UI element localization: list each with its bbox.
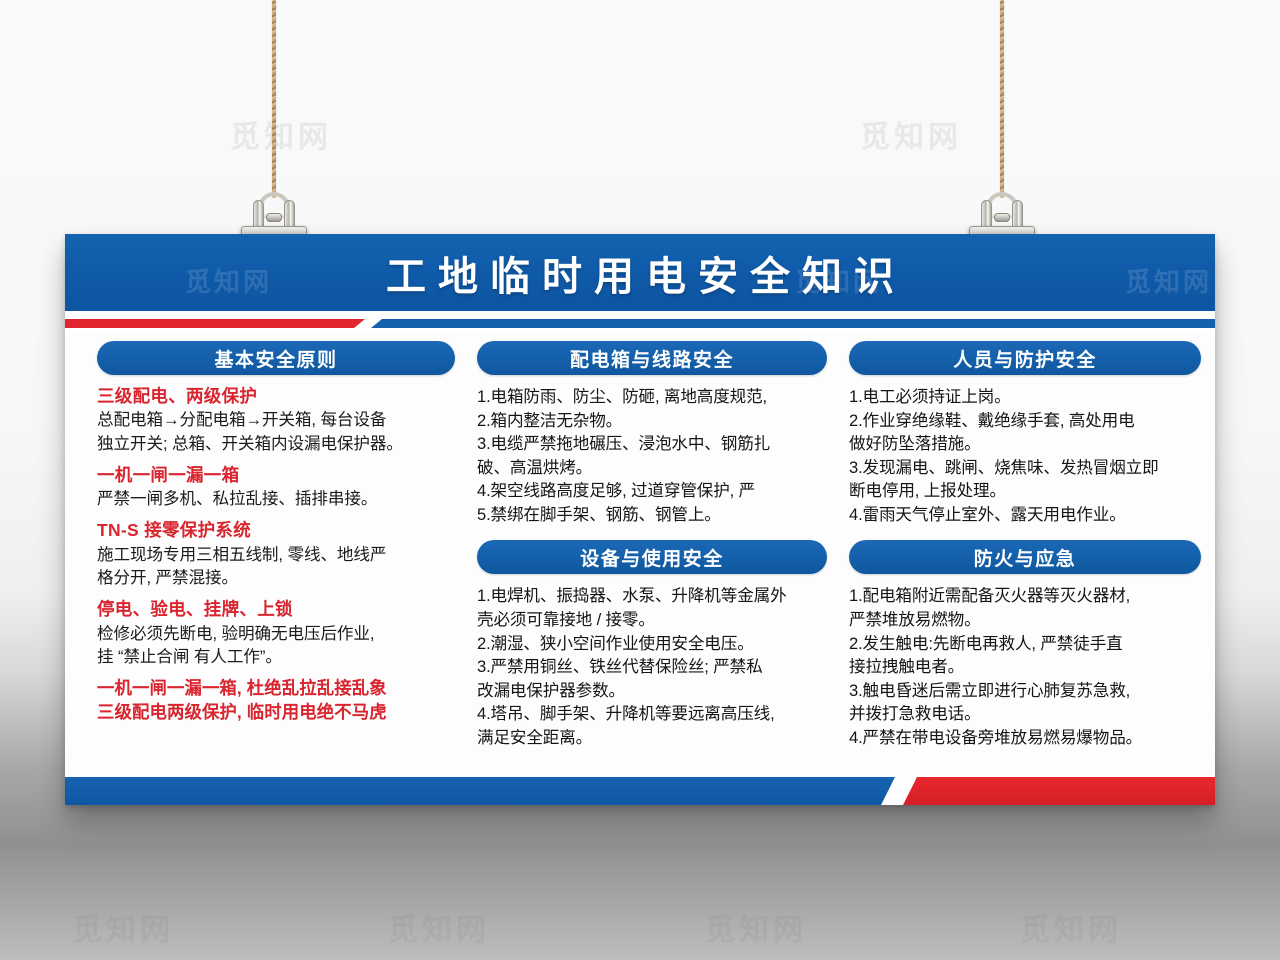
column-distribution-box: 配电箱与线路安全 1.电箱防雨、防尘、防砸, 离地高度规范, 2.箱内整洁无杂物… — [477, 341, 827, 753]
accent-stripe-blue — [371, 319, 1215, 328]
paragraph: 总配电箱→分配电箱→开关箱, 每台设备 独立开关; 总箱、开关箱内设漏电保护器。 — [97, 408, 455, 454]
page-title: 工地临时用电安全知识 — [374, 244, 906, 302]
numbered-list: 1.配电箱附近需配备灭火器等灭火器材, 严禁堆放易燃物。 2.发生触电:先断电再… — [849, 584, 1201, 749]
section-heading-basic-principles: 基本安全原则 — [97, 341, 455, 375]
section-heading-distribution-box: 配电箱与线路安全 — [477, 341, 827, 375]
column-basic-principles: 基本安全原则 三级配电、两级保护 总配电箱→分配电箱→开关箱, 每台设备 独立开… — [97, 341, 455, 753]
hanging-rope-right — [1000, 0, 1004, 198]
paragraph: 检修必须先断电, 验明确无电压后作业, 挂 “禁止合闸 有人工作”。 — [97, 622, 455, 668]
subheading: TN-S 接零保护系统 — [97, 519, 455, 541]
watermark: 觅知网 — [1125, 262, 1212, 299]
section-heading-equipment-use: 设备与使用安全 — [477, 540, 827, 574]
footer-bar-red — [903, 777, 1215, 805]
watermark: 觅知网 — [72, 905, 174, 949]
board-header: 觅知网 觅知网 觅知网 工地临时用电安全知识 — [65, 234, 1215, 311]
column-personnel-protection: 人员与防护安全 1.电工必须持证上岗。 2.作业穿绝缘鞋、戴绝缘手套, 高处用电… — [849, 341, 1201, 753]
footer-bar-blue — [65, 777, 895, 805]
numbered-list: 1.电工必须持证上岗。 2.作业穿绝缘鞋、戴绝缘手套, 高处用电 做好防坠落措施… — [849, 385, 1201, 526]
watermark: 觅知网 — [860, 112, 962, 156]
hanging-rope-left — [272, 0, 276, 198]
board-content: 基本安全原则 三级配电、两级保护 总配电箱→分配电箱→开关箱, 每台设备 独立开… — [65, 333, 1215, 753]
accent-stripe-red — [65, 319, 365, 328]
subheading: 停电、验电、挂牌、上锁 — [97, 598, 455, 620]
watermark: 觅知网 — [1020, 905, 1122, 949]
board-footer — [65, 777, 1215, 805]
watermark: 觅知网 — [388, 905, 490, 949]
watermark: 觅知网 — [705, 905, 807, 949]
watermark: 觅知网 — [230, 112, 332, 156]
slogan: 一机一闸一漏一箱, 杜绝乱拉乱接乱象 三级配电两级保护, 临时用电绝不马虎 — [97, 677, 455, 724]
safety-board: 觅知网 觅知网 觅知网 工地临时用电安全知识 基本安全原则 三级配电、两级保护 … — [65, 234, 1215, 805]
section-heading-personnel-protection: 人员与防护安全 — [849, 341, 1201, 375]
paragraph: 严禁一闸多机、私拉乱接、插排串接。 — [97, 487, 455, 510]
numbered-list: 1.电箱防雨、防尘、防砸, 离地高度规范, 2.箱内整洁无杂物。 3.电缆严禁拖… — [477, 385, 827, 526]
accent-stripe — [65, 311, 1215, 333]
numbered-list: 1.电焊机、振捣器、水泵、升降机等金属外 壳必须可靠接地 / 接零。 2.潮湿、… — [477, 584, 827, 749]
clip-knot-icon — [994, 213, 1010, 222]
subheading: 三级配电、两级保护 — [97, 385, 455, 407]
section-heading-fire-emergency: 防火与应急 — [849, 540, 1201, 574]
watermark: 觅知网 — [185, 262, 272, 299]
paragraph: 施工现场专用三相五线制, 零线、地线严 格分开, 严禁混接。 — [97, 543, 455, 589]
clip-knot-icon — [266, 213, 282, 222]
subheading: 一机一闸一漏一箱 — [97, 464, 455, 486]
